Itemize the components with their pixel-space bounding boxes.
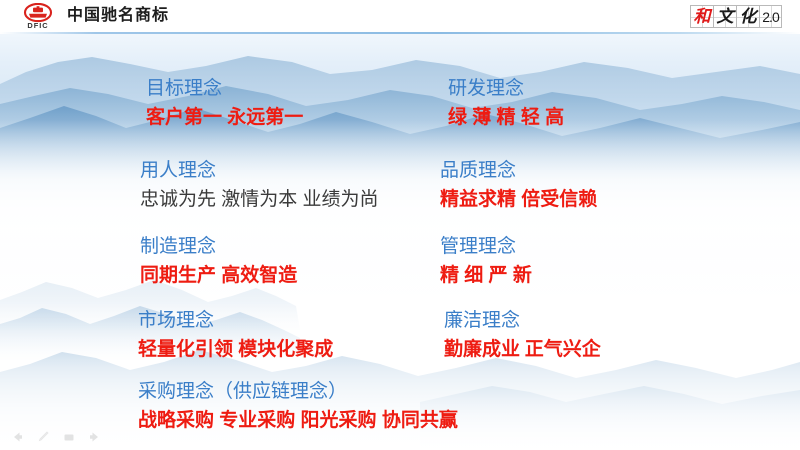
concept-title: 采购理念（供应链理念）: [138, 379, 458, 404]
concept-body: 精 细 严 新: [440, 263, 532, 288]
rectangle-icon: [62, 430, 76, 444]
concept-body: 同期生产 高效智造: [140, 263, 297, 288]
concept-title: 品质理念: [440, 158, 597, 183]
concept-body: 轻量化引领 模块化聚成: [138, 337, 333, 362]
concept-title: 用人理念: [140, 158, 379, 183]
concept-title: 管理理念: [440, 234, 532, 259]
arrow-left-icon: [10, 430, 24, 444]
brand-lockup: DFIC 中国驰名商标: [18, 3, 169, 30]
calligraphy-grid: 和 文 化 2.0: [690, 5, 782, 28]
concept-block-quality: 品质理念 精益求精 倍受信赖: [440, 158, 597, 212]
concept-title: 制造理念: [140, 234, 297, 259]
concept-block-purchasing: 采购理念（供应链理念） 战略采购 专业采购 阳光采购 协同共赢: [138, 379, 458, 433]
concept-body: 绿 薄 精 轻 高: [448, 105, 564, 130]
pen-tool-button[interactable]: [36, 430, 50, 444]
calligraphy-cell: 和: [690, 5, 713, 28]
concept-block-integrity: 廉洁理念 勤廉成业 正气兴企: [444, 308, 601, 362]
concept-block-manufacturing: 制造理念 同期生产 高效智造: [140, 234, 297, 288]
concept-body: 战略采购 专业采购 阳光采购 协同共赢: [138, 408, 458, 433]
calligraphy-cell: 2.0: [759, 5, 782, 28]
concept-block-market: 市场理念 轻量化引领 模块化聚成: [138, 308, 333, 362]
calligraphy-cell: 文: [713, 5, 736, 28]
calligraphy-glyph: 文: [717, 8, 734, 25]
next-slide-button[interactable]: [88, 430, 102, 444]
header-divider: [0, 32, 800, 34]
concept-block-goal: 目标理念 客户第一 永远第一: [146, 76, 303, 130]
presenter-toolbar: [10, 430, 102, 444]
concept-title: 研发理念: [448, 76, 564, 101]
previous-slide-button[interactable]: [10, 430, 24, 444]
concept-title: 目标理念: [146, 76, 303, 101]
svg-text:DFIC: DFIC: [27, 21, 48, 30]
concept-title: 廉洁理念: [444, 308, 601, 333]
calligraphy-glyph: 和: [694, 8, 711, 25]
slide-content: 目标理念 客户第一 永远第一 研发理念 绿 薄 精 轻 高 用人理念 忠诚为先 …: [0, 0, 800, 450]
concept-body: 忠诚为先 激情为本 业绩为尚: [140, 187, 379, 212]
concept-body: 客户第一 永远第一: [146, 105, 303, 130]
pen-icon: [36, 430, 50, 444]
calligraphy-version: 2.0: [762, 10, 778, 24]
dfic-logo-icon: DFIC: [18, 3, 58, 30]
concept-block-rd: 研发理念 绿 薄 精 轻 高: [448, 76, 564, 130]
concept-body: 勤廉成业 正气兴企: [444, 337, 601, 362]
brand-title: 中国驰名商标: [67, 8, 169, 26]
concept-block-people: 用人理念 忠诚为先 激情为本 业绩为尚: [140, 158, 379, 212]
calligraphy-glyph: 化: [740, 8, 757, 25]
calligraphy-cell: 化: [736, 5, 759, 28]
slide-menu-button[interactable]: [62, 430, 76, 444]
concept-block-management: 管理理念 精 细 严 新: [440, 234, 532, 288]
concept-body: 精益求精 倍受信赖: [440, 187, 597, 212]
arrow-right-icon: [88, 430, 102, 444]
concept-title: 市场理念: [138, 308, 333, 333]
slide-header: DFIC 中国驰名商标 和 文 化 2.0: [0, 0, 800, 33]
presentation-slide: DFIC 中国驰名商标 和 文 化 2.0 目标理念 客户第一 永远第一: [0, 0, 800, 450]
